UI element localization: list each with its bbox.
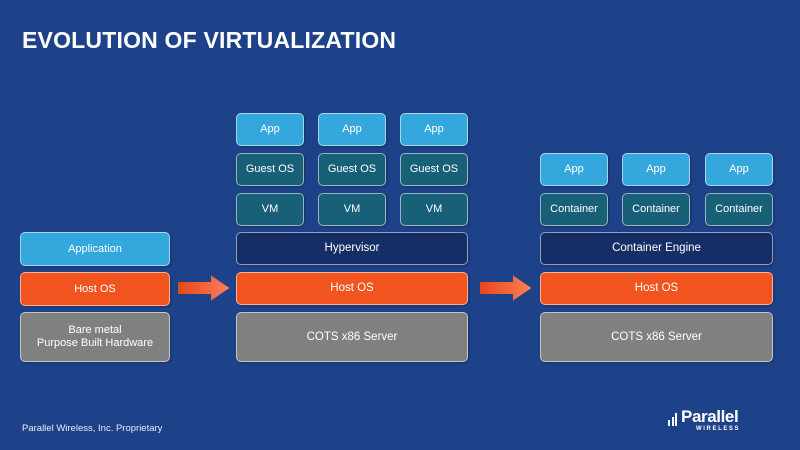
page-title: EVOLUTION OF VIRTUALIZATION — [22, 27, 396, 54]
stack-vm-app-box-3[interactable]: App — [400, 113, 468, 146]
stack-container-engine-box[interactable]: Container Engine — [540, 232, 773, 265]
stack-container-app-box-2[interactable]: App — [622, 153, 690, 186]
parallel-wireless-logo: Parallel WIRELESS — [668, 409, 748, 439]
stack-vm-vm-box-1[interactable]: VM — [236, 193, 304, 226]
stack-container-app-box-3[interactable]: App — [705, 153, 773, 186]
stack-vm-vm-box-3[interactable]: VM — [400, 193, 468, 226]
stack-vm-guestos-box-3[interactable]: Guest OS — [400, 153, 468, 186]
stack-vm-server-box[interactable]: COTS x86 Server — [236, 312, 468, 362]
stack-baremetal-application-box[interactable]: Application — [20, 232, 170, 266]
footer-proprietary-note: Parallel Wireless, Inc. Proprietary — [22, 423, 162, 434]
stack-vm-hostos-box[interactable]: Host OS — [236, 272, 468, 305]
stack-vm-guestos-box-1[interactable]: Guest OS — [236, 153, 304, 186]
stack-vm-hypervisor-box[interactable]: Hypervisor — [236, 232, 468, 265]
stack-vm-guestos-box-2[interactable]: Guest OS — [318, 153, 386, 186]
stack-container-container-box-3[interactable]: Container — [705, 193, 773, 226]
stack-vm-vm-box-2[interactable]: VM — [318, 193, 386, 226]
logo-subtitle: WIRELESS — [696, 426, 740, 432]
stack-container-hostos-box[interactable]: Host OS — [540, 272, 773, 305]
stack-baremetal-hardware-box[interactable]: Bare metal Purpose Built Hardware — [20, 312, 170, 362]
right-arrow-icon-baremetal-to-vm — [178, 275, 230, 301]
stack-vm-app-box-2[interactable]: App — [318, 113, 386, 146]
stack-container-container-box-2[interactable]: Container — [622, 193, 690, 226]
stack-vm-app-box-1[interactable]: App — [236, 113, 304, 146]
right-arrow-icon-vm-to-container — [480, 275, 532, 301]
stack-baremetal-hostos-box[interactable]: Host OS — [20, 272, 170, 306]
logo-wordmark: Parallel — [681, 407, 738, 427]
slide-canvas: EVOLUTION OF VIRTUALIZATION Application … — [0, 0, 800, 450]
stack-container-container-box-1[interactable]: Container — [540, 193, 608, 226]
stack-container-server-box[interactable]: COTS x86 Server — [540, 312, 773, 362]
signal-bars-icon — [668, 411, 677, 426]
stack-container-app-box-1[interactable]: App — [540, 153, 608, 186]
